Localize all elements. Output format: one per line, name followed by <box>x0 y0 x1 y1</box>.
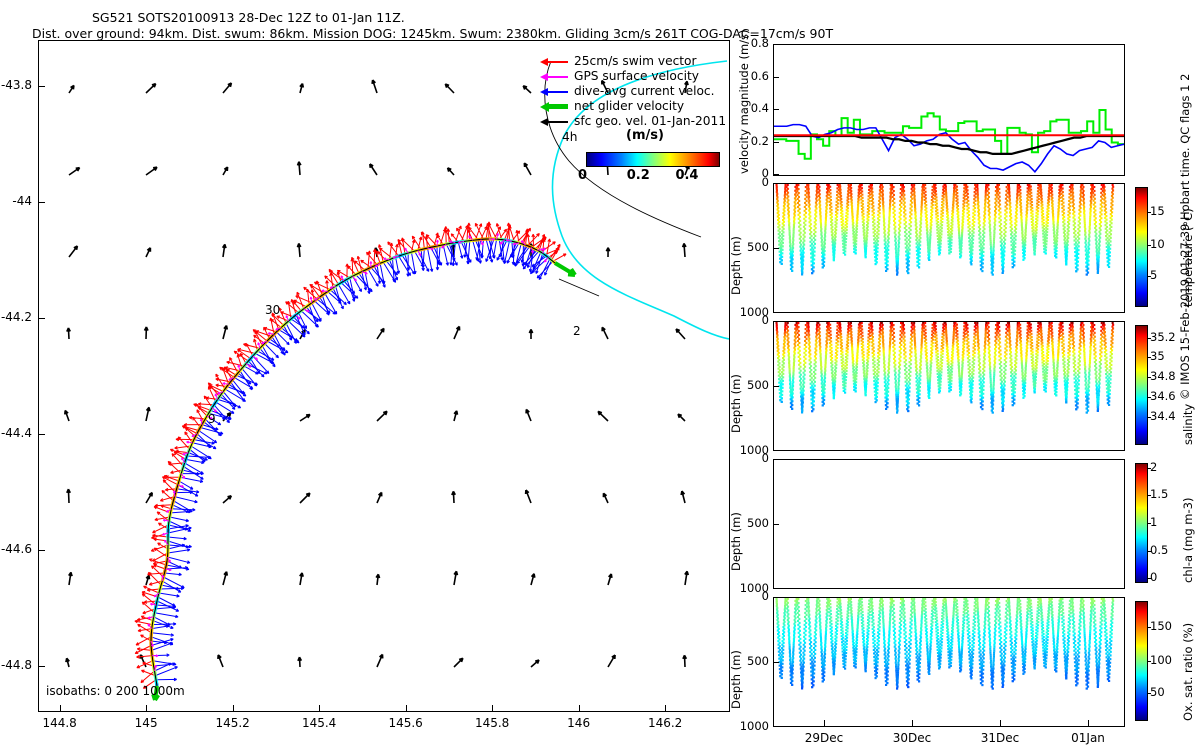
map-xtick-label: 145 <box>121 716 171 730</box>
map-ytick-mark <box>38 318 45 319</box>
time-axis-tick-mark <box>1000 720 1001 727</box>
map-ytick-mark <box>38 666 45 667</box>
temperature-colorbar-tick: 5 <box>1150 268 1157 282</box>
temperature-colorbar-tick-mark <box>1148 245 1151 246</box>
map-xtick-mark <box>579 705 580 712</box>
legend-item-4: sfc geo. vel. 01-Jan-2011 <box>540 114 740 129</box>
chl-a-ylabel: Depth (m) <box>729 512 743 571</box>
glider-track-line <box>151 239 555 686</box>
dive-number-label: 30 <box>265 303 280 317</box>
temperature-colorbar-tick: 10 <box>1150 237 1165 251</box>
velocity-ytick-label: 0.6 <box>741 69 769 83</box>
map-velocity-colorbar-ticks: 00.20.4 <box>560 168 750 184</box>
legend-swatch-icon <box>540 115 570 128</box>
legend-time-scale-label: 4h <box>562 130 577 144</box>
salinity-depth-tick-mark <box>773 321 779 322</box>
map-colorbar-tick: 0 <box>578 168 587 183</box>
chl-a-colorbar-tick-mark <box>1148 551 1151 552</box>
chl-a-colorbar <box>1135 463 1148 583</box>
chl-a-colorbar-tick-mark <box>1148 523 1151 524</box>
oxygen-colorbar-tick: 50 <box>1150 685 1165 699</box>
legend-item-label: net glider velocity <box>574 100 684 113</box>
oxygen-colorbar-tick-mark <box>1148 661 1151 662</box>
map-xtick-label: 145.8 <box>467 716 517 730</box>
legend-item-1: GPS surface velocity <box>540 69 740 84</box>
map-ytick-label: -44 <box>0 194 32 208</box>
salinity-colorbar-tick-mark <box>1148 377 1151 378</box>
chl-a-colorbar-tick: 1 <box>1150 515 1157 529</box>
oxygen-colorbar-tick: 100 <box>1150 653 1172 667</box>
map-xtick-label: 146.2 <box>640 716 690 730</box>
temperature-section-panel[interactable] <box>773 183 1125 313</box>
chl-a-depth-tick-label: 0 <box>731 451 769 465</box>
gps-surface-velocity-vectors <box>148 233 548 671</box>
legend-item-label: 25cm/s swim vector <box>574 55 697 68</box>
oxygen-depth-tick-mark <box>773 597 779 598</box>
oxygen-depth-tick-label: 0 <box>731 589 769 603</box>
map-ytick-mark <box>38 434 45 435</box>
salinity-colorbar-tick: 34.6 <box>1150 389 1176 403</box>
legend-units-label: (m/s) <box>626 128 664 143</box>
map-legend: 25cm/s swim vectorGPS surface velocitydi… <box>540 54 740 145</box>
map-ytick-label: -44.4 <box>0 426 32 440</box>
salinity-depth-tick-mark <box>773 386 779 387</box>
time-axis-tick-label: 01Jan <box>1058 731 1118 745</box>
map-xtick-label: 145.6 <box>381 716 431 730</box>
temperature-depth-tick-mark <box>773 312 779 313</box>
chl-a-depth-tick-mark <box>773 459 779 460</box>
net-glider-velocity-vectors <box>153 263 575 700</box>
velocity-ytick-label: 0.8 <box>741 36 769 50</box>
map-xtick-mark <box>146 705 147 712</box>
dive-number-label: 2 <box>573 324 581 338</box>
legend-swatch-icon <box>540 85 570 98</box>
time-axis-tick-label: 30Dec <box>882 731 942 745</box>
chl-a-colorbar-tick: 0 <box>1150 570 1157 584</box>
time-axis-tick-label: 29Dec <box>794 731 854 745</box>
temperature-colorbar <box>1135 187 1148 307</box>
time-axis-tick-mark <box>912 720 913 727</box>
oxygen-colorbar-tick: 150 <box>1150 619 1172 633</box>
chl-a-colorbar-tick-mark <box>1148 468 1151 469</box>
map-xtick-mark <box>60 705 61 712</box>
velocity-ytick-mark <box>773 77 779 78</box>
oxygen-colorbar-tick-mark <box>1148 693 1151 694</box>
chl-a-colorbar-tick: 2 <box>1150 460 1157 474</box>
salinity-colorbar <box>1135 325 1148 445</box>
chl-a-colorbar-tick-mark <box>1148 495 1151 496</box>
legend-item-3: net glider velocity <box>540 99 740 114</box>
salinity-colorbar-tick: 35.2 <box>1150 330 1176 344</box>
map-ytick-mark <box>38 86 45 87</box>
oxygen-depth-tick-label: 1000 <box>731 719 769 733</box>
legend-swatch-icon <box>540 70 570 83</box>
map-velocity-colorbar <box>586 152 720 167</box>
map-colorbar-tick: 0.2 <box>627 168 650 183</box>
salinity-depth-tick-label: 0 <box>731 313 769 327</box>
salinity-colorbar-tick-mark <box>1148 397 1151 398</box>
salinity-colorbar-title: salinity <box>1181 404 1195 445</box>
velocity-magnitude-panel[interactable] <box>773 44 1125 176</box>
chl-a-section-scatter <box>774 460 1124 588</box>
legend-swatch-icon <box>540 55 570 68</box>
legend-item-0: 25cm/s swim vector <box>540 54 740 69</box>
salinity-section-panel[interactable] <box>773 321 1125 451</box>
map-ytick-label: -43.8 <box>0 78 32 92</box>
map-xtick-mark <box>406 705 407 712</box>
oxygen-colorbar <box>1135 601 1148 721</box>
oxygen-depth-tick-mark <box>773 726 779 727</box>
legend-item-label: GPS surface velocity <box>574 70 699 83</box>
temperature-depth-tick-mark <box>773 183 779 184</box>
chl-a-depth-tick-mark <box>773 588 779 589</box>
velocity-ytick-mark <box>773 142 779 143</box>
page-title-line1: SG521 SOTS20100913 28-Dec 12Z to 01-Jan … <box>92 10 405 25</box>
velocity-ytick-label: 0.2 <box>741 134 769 148</box>
credit-text: © IMOS 15-Feb-2019 01:27:39 Hobart time.… <box>1178 74 1192 400</box>
salinity-colorbar-tick-mark <box>1148 417 1151 418</box>
map-ytick-label: -44.6 <box>0 542 32 556</box>
map-ytick-mark <box>38 550 45 551</box>
temperature-colorbar-tick: 15 <box>1150 204 1165 218</box>
salinity-colorbar-tick-mark <box>1148 338 1151 339</box>
oxygen-section-panel[interactable] <box>773 597 1125 727</box>
chl-a-colorbar-tick: 1.5 <box>1150 487 1168 501</box>
annotation-leader-line-2 <box>559 279 599 296</box>
dive-avg-current-vector-field <box>151 239 553 681</box>
map-xtick-mark <box>233 705 234 712</box>
salinity-colorbar-tick-mark <box>1148 357 1151 358</box>
legend-swatch-icon <box>540 100 570 113</box>
map-xtick-label: 145.2 <box>208 716 258 730</box>
velocity-ytick-mark <box>773 109 779 110</box>
chl-a-colorbar-title: chl-a (mg m-3) <box>1181 498 1195 583</box>
map-xtick-mark <box>319 705 320 712</box>
temperature-colorbar-tick-mark <box>1148 276 1151 277</box>
time-axis-tick-mark <box>1088 720 1089 727</box>
salinity-section-scatter <box>774 322 1124 450</box>
map-xtick-label: 144.8 <box>35 716 85 730</box>
map-xtick-label: 145.4 <box>294 716 344 730</box>
chl-a-colorbar-tick-mark <box>1148 578 1151 579</box>
salinity-ylabel: Depth (m) <box>729 374 743 433</box>
temperature-section-scatter <box>774 184 1124 312</box>
temperature-depth-tick-mark <box>773 248 779 249</box>
oxygen-colorbar-tick-mark <box>1148 627 1151 628</box>
oxygen-section-scatter <box>774 598 1124 726</box>
oxygen-ylabel: Depth (m) <box>729 650 743 709</box>
chl-a-colorbar-tick: 0.5 <box>1150 543 1168 557</box>
velocity-ytick-label: 0.4 <box>741 101 769 115</box>
time-axis-tick-label: 31Dec <box>970 731 1030 745</box>
map-xtick-mark <box>492 705 493 712</box>
velocity-ytick-mark <box>773 44 779 45</box>
velocity-timeseries-plot <box>774 45 1124 175</box>
time-axis-tick-mark <box>824 720 825 727</box>
velocity-ytick-mark <box>773 174 779 175</box>
chl-a-section-panel[interactable] <box>773 459 1125 589</box>
isobaths-caption: isobaths: 0 200 1000m <box>46 684 185 698</box>
salinity-colorbar-tick: 34.4 <box>1150 409 1176 423</box>
map-xtick-mark <box>665 705 666 712</box>
oxygen-depth-tick-mark <box>773 662 779 663</box>
salinity-colorbar-tick: 34.8 <box>1150 369 1176 383</box>
salinity-colorbar-tick: 35 <box>1150 349 1165 363</box>
map-colorbar-tick: 0.4 <box>675 168 698 183</box>
oxygen-colorbar-title: Ox. sat. ratio (%) <box>1181 623 1195 721</box>
legend-item-2: dive-avg current veloc. <box>540 84 740 99</box>
legend-item-label: dive-avg current veloc. <box>574 85 715 98</box>
salinity-depth-tick-mark <box>773 450 779 451</box>
temperature-ylabel: Depth (m) <box>729 236 743 295</box>
map-ytick-label: -44.8 <box>0 658 32 672</box>
legend-item-label: sfc geo. vel. 01-Jan-2011 <box>574 115 726 128</box>
page-title-line2: Dist. over ground: 94km. Dist. swum: 86k… <box>32 26 833 41</box>
chl-a-depth-tick-mark <box>773 524 779 525</box>
dive-number-label: 9 <box>208 412 216 426</box>
map-ytick-label: -44.2 <box>0 310 32 324</box>
map-ytick-mark <box>38 202 45 203</box>
temperature-depth-tick-label: 0 <box>731 175 769 189</box>
temperature-colorbar-tick-mark <box>1148 212 1151 213</box>
map-xtick-label: 146 <box>554 716 604 730</box>
